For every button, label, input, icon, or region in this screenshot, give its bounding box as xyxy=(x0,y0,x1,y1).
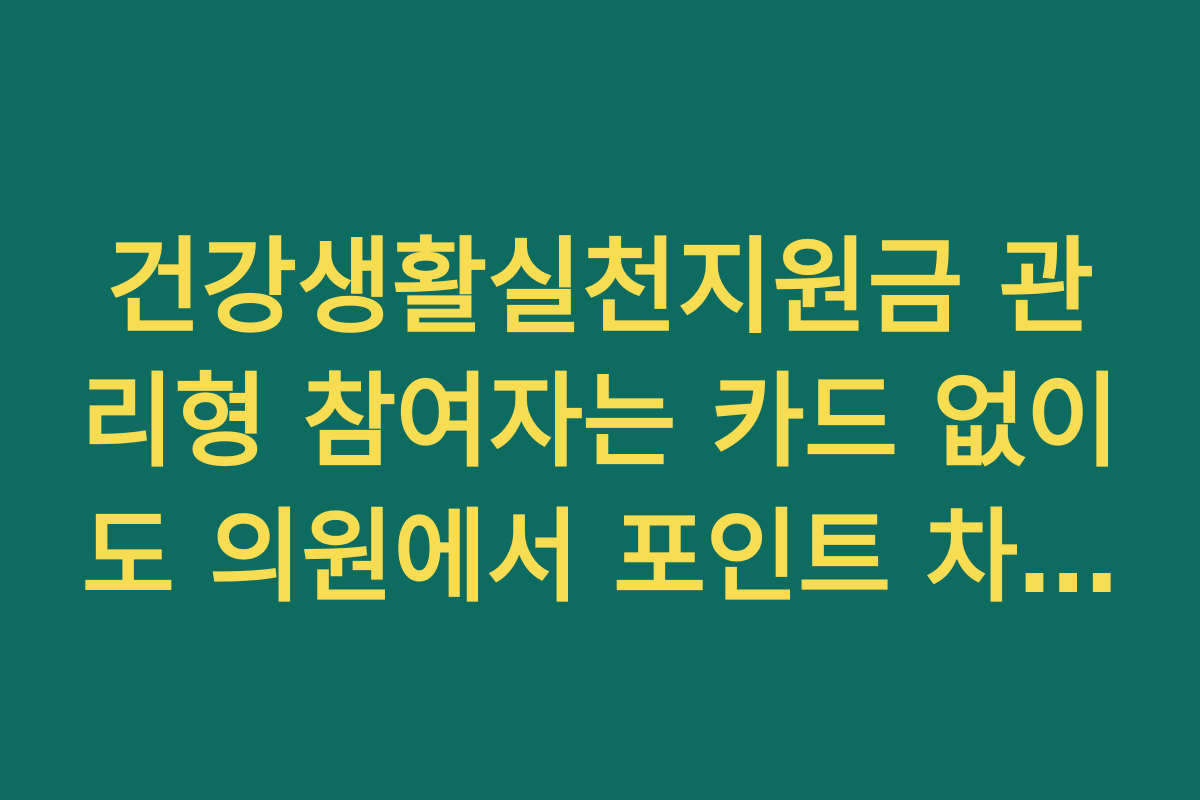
thumbnail-card: 건강생활실천지원금 관 리형 참여자는 카드 없이 도 의원에서 포인트 차… xyxy=(0,0,1200,800)
headline-line-3: 도 의원에서 포인트 차… xyxy=(80,490,1120,625)
headline-line-2: 리형 참여자는 카드 없이 xyxy=(80,355,1120,490)
headline-line-1: 건강생활실천지원금 관 xyxy=(80,220,1120,355)
headline-text-block: 건강생활실천지원금 관 리형 참여자는 카드 없이 도 의원에서 포인트 차… xyxy=(80,220,1120,625)
